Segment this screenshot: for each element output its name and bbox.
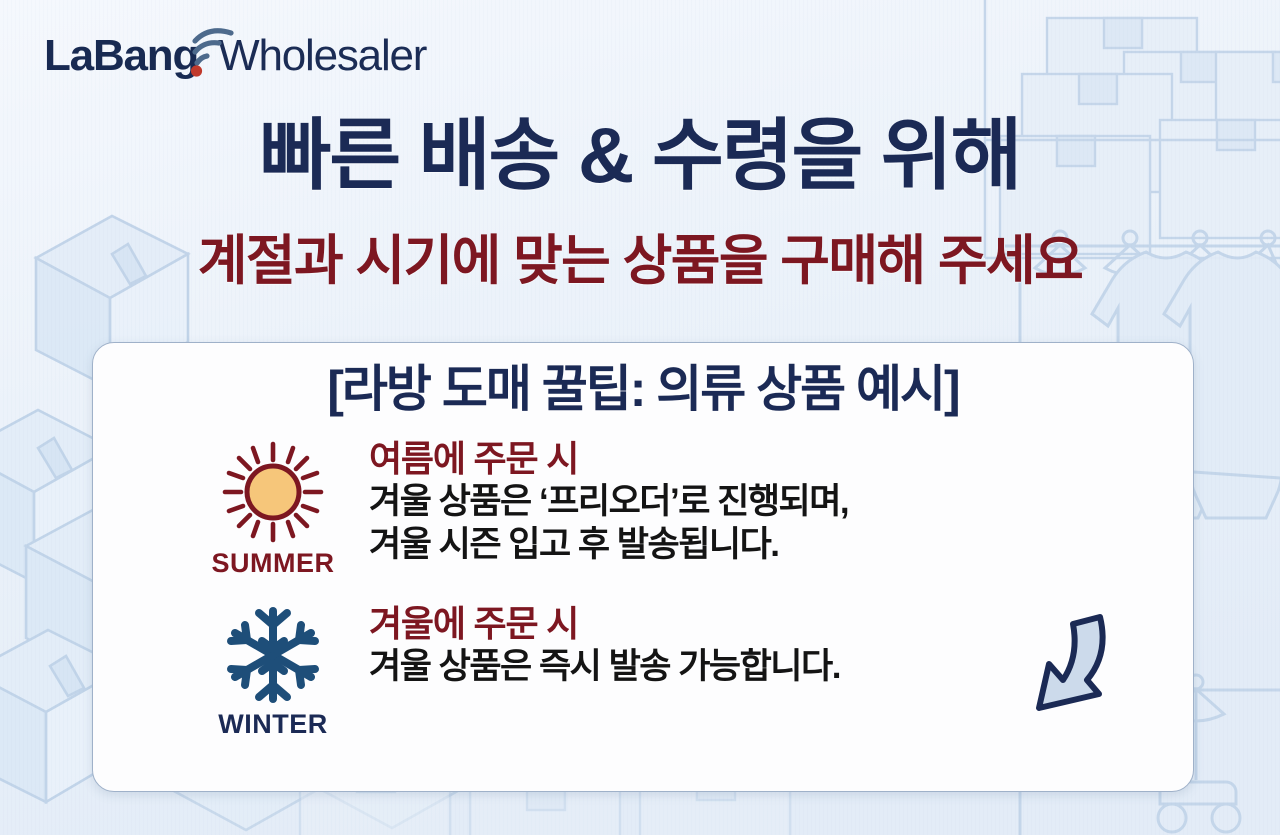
snowflake-icon <box>221 605 325 705</box>
summer-badge-label: SUMMER <box>212 548 335 579</box>
summer-badge: SUMMER <box>189 436 357 579</box>
sun-icon <box>217 440 329 544</box>
tip-card: [라방 도매 꿀팁: 의류 상품 예시] <box>92 342 1194 792</box>
brand-name-bold: LaBang <box>44 34 198 78</box>
curved-down-left-arrow-icon <box>1005 612 1125 720</box>
wifi-dot-icon <box>191 65 202 76</box>
winter-badge: WINTER <box>189 601 357 740</box>
page-title: 빠른 배송 & 수령을 위해 <box>0 116 1280 194</box>
brand-logo[interactable]: LaBang Wholesaler <box>44 34 426 78</box>
summer-body: 겨울 상품은 ‘프리오더’로 진행되며, 겨울 시즌 입고 후 발송됩니다. <box>369 481 1169 566</box>
brand-name-light: Wholesaler <box>218 34 426 78</box>
page-subtitle: 계절과 시기에 맞는 상품을 구매해 주세요 <box>0 234 1280 288</box>
summer-text-block: 여름에 주문 시 겨울 상품은 ‘프리오더’로 진행되며, 겨울 시즌 입고 후… <box>357 436 1169 567</box>
summer-body-line-1: 겨울 상품은 ‘프리오더’로 진행되며, <box>369 481 1169 524</box>
promo-banner: LaBang Wholesaler 빠른 배송 & 수령을 위해 계절과 시기에… <box>0 0 1280 835</box>
season-row-summer: SUMMER 여름에 주문 시 겨울 상품은 ‘프리오더’로 진행되며, 겨울 … <box>93 436 1193 579</box>
summer-body-line-2: 겨울 시즌 입고 후 발송됩니다. <box>369 524 1169 567</box>
card-title: [라방 도매 꿀팁: 의류 상품 예시] <box>93 363 1193 416</box>
summer-heading: 여름에 주문 시 <box>369 438 1169 480</box>
wifi-signal-icon <box>186 26 246 80</box>
winter-badge-label: WINTER <box>218 709 327 740</box>
